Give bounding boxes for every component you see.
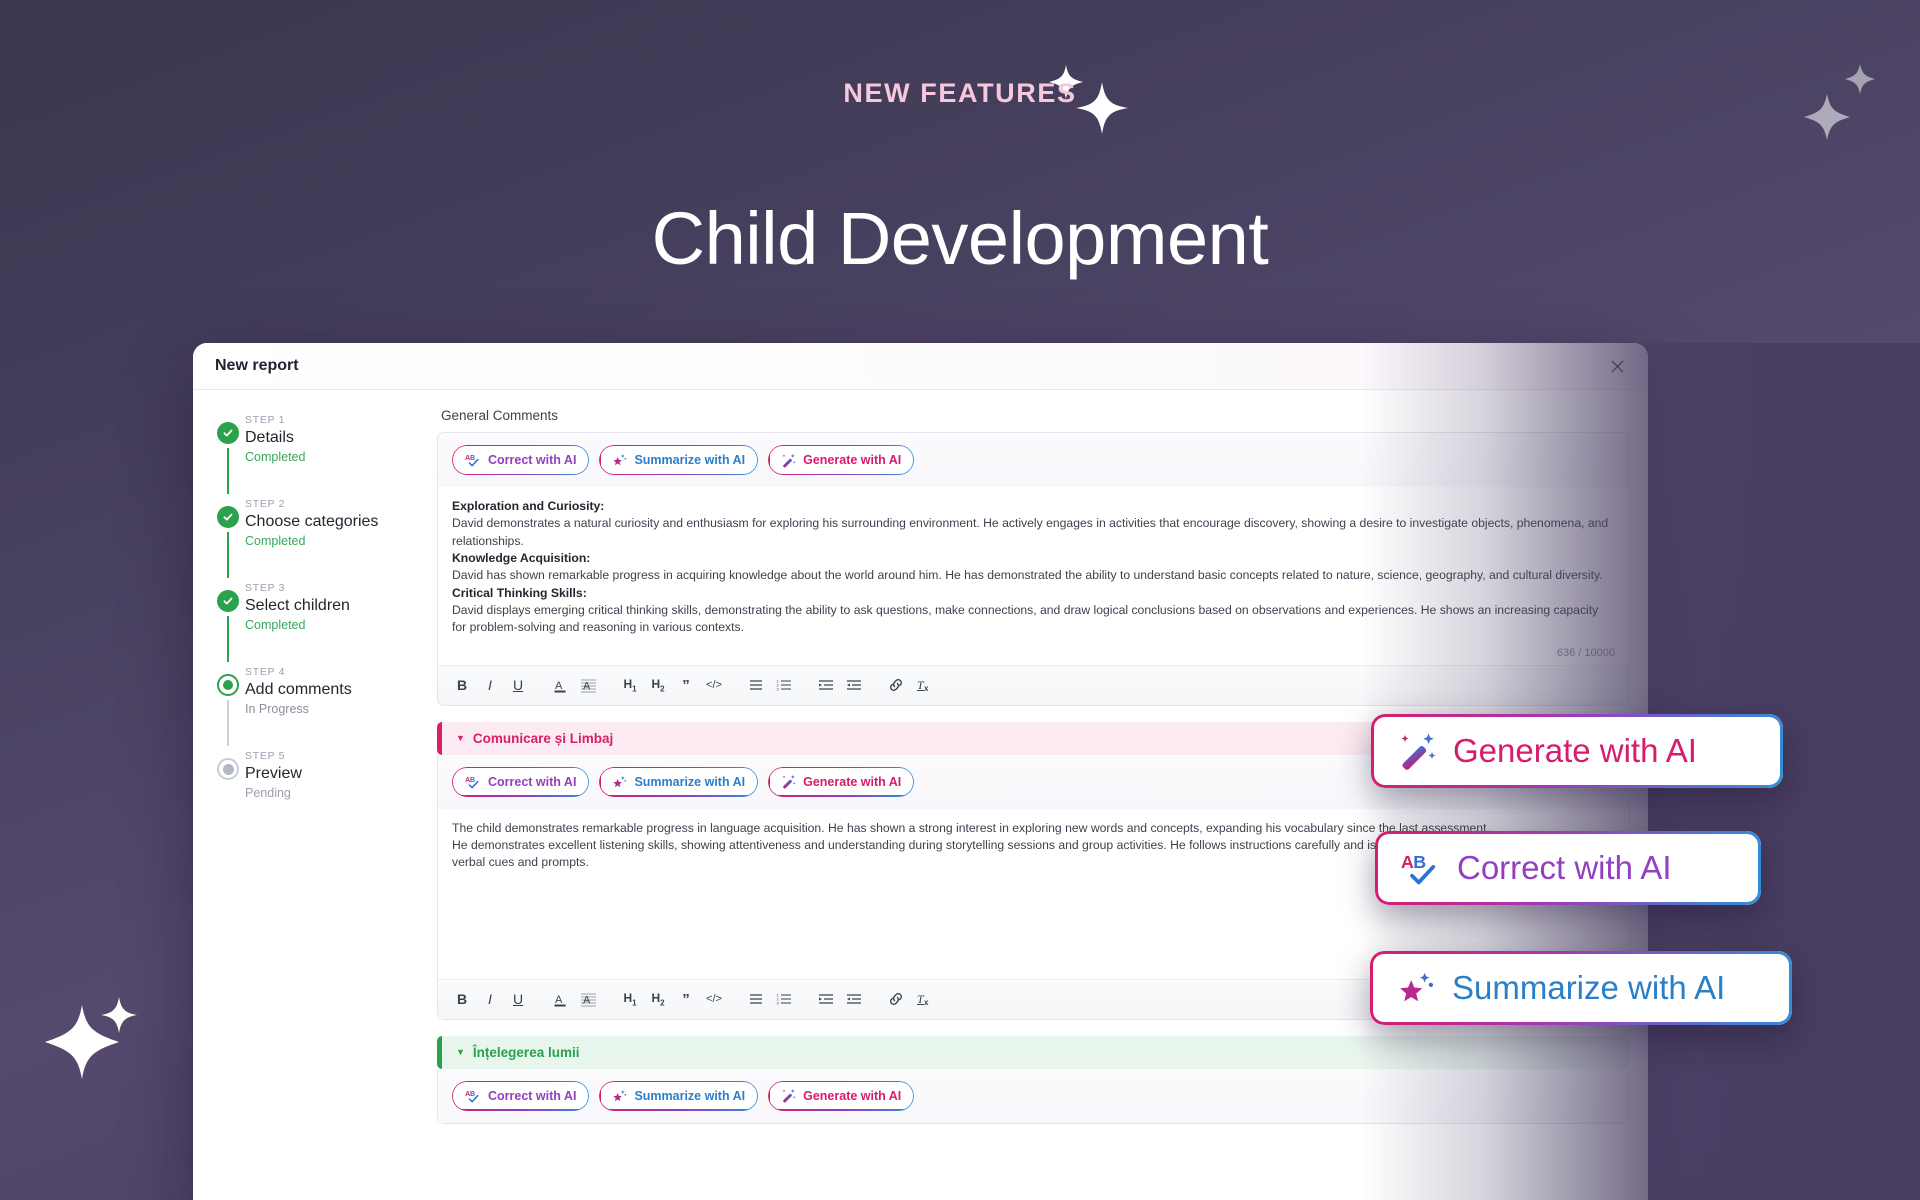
code-block-icon[interactable]: </> (700, 671, 728, 699)
code-block-icon[interactable]: </> (700, 985, 728, 1013)
ai-actions-bar: A B Correct with AI (438, 433, 1629, 487)
kicker-banner: NEW FEATURES (0, 78, 1920, 109)
chevron-down-icon: ▼ (456, 733, 465, 743)
step-number: STEP 3 (245, 582, 350, 594)
step-number: STEP 4 (245, 666, 352, 678)
stepper-item-choose-categories[interactable]: STEP 2 Choose categories Completed (211, 494, 423, 578)
step-name: Select children (245, 597, 350, 615)
summarize-with-ai-button[interactable]: Summarize with AI (599, 1081, 758, 1111)
step-text: STEP 1 Details Completed (245, 410, 305, 464)
ab-check-icon: A B (465, 775, 481, 789)
category-section-intelegerea: ▼ Înțelegerea lumii (437, 1036, 1630, 1069)
step-active-icon (217, 674, 239, 696)
svg-text:B: B (1413, 852, 1426, 872)
svg-text:x: x (924, 998, 929, 1007)
bullet-list-icon[interactable] (742, 671, 770, 699)
step-text: STEP 2 Choose categories Completed (245, 494, 378, 548)
general-comments-editor: A B Correct with AI (437, 432, 1630, 706)
svg-text:B: B (470, 777, 475, 784)
modal-title: New report (215, 357, 299, 375)
svg-text:B: B (470, 1091, 475, 1098)
star-spark-icon (612, 1089, 627, 1103)
correct-with-ai-label: Correct with AI (488, 775, 576, 789)
step-status: Pending (245, 786, 302, 800)
kicker-text: NEW FEATURES (843, 78, 1076, 109)
step-check-icon (217, 422, 239, 444)
step-number: STEP 5 (245, 750, 302, 762)
svg-text:A: A (583, 994, 591, 1006)
summarize-with-ai-button[interactable]: Summarize with AI (599, 445, 758, 475)
general-comments-label: General Comments (441, 408, 1630, 423)
summarize-with-ai-label: Summarize with AI (634, 453, 745, 467)
bold-icon[interactable]: B (448, 671, 476, 699)
correct-with-ai-label: Correct with AI (488, 453, 576, 467)
heading-1-icon[interactable]: H1 (616, 671, 644, 699)
step-status: In Progress (245, 702, 352, 716)
generate-with-ai-label: Generate with AI (803, 1089, 901, 1103)
editor-toolbar: B I U A A (438, 665, 1629, 705)
category-header[interactable]: ▼ Înțelegerea lumii (437, 1036, 1630, 1069)
summarize-with-ai-label: Summarize with AI (634, 1089, 745, 1103)
generate-with-ai-label: Generate with AI (803, 775, 901, 789)
svg-text:x: x (924, 684, 929, 693)
step-status: Completed (245, 618, 350, 632)
svg-text:3: 3 (777, 1000, 780, 1005)
stepper-item-select-children[interactable]: STEP 3 Select children Completed (211, 578, 423, 662)
bullet-list-icon[interactable] (742, 985, 770, 1013)
callout-label: Generate with AI (1453, 732, 1697, 770)
category-editor-intelegerea: A B Correct with AI (437, 1069, 1630, 1124)
svg-text:A: A (1401, 852, 1414, 872)
summarize-with-ai-button[interactable]: Summarize with AI (599, 767, 758, 797)
heading-2-icon[interactable]: H2 (644, 985, 672, 1013)
correct-with-ai-button[interactable]: A B Correct with AI (452, 767, 589, 797)
paragraph-body: David demonstrates a natural curiosity a… (452, 515, 1615, 550)
star-spark-icon (612, 453, 627, 467)
highlight-color-icon[interactable]: A (574, 671, 602, 699)
paragraph-heading: Knowledge Acquisition: (452, 551, 590, 565)
indent-decrease-icon[interactable] (840, 985, 868, 1013)
underline-icon[interactable]: U (504, 985, 532, 1013)
blockquote-icon[interactable]: ” (672, 671, 700, 699)
link-icon[interactable] (882, 671, 910, 699)
svg-text:A: A (555, 680, 563, 692)
indent-increase-icon[interactable] (812, 985, 840, 1013)
ab-check-icon: A B (465, 1089, 481, 1103)
indent-increase-icon[interactable] (812, 671, 840, 699)
page-title: Child Development (0, 196, 1920, 281)
callout-correct-with-ai[interactable]: A B Correct with AI (1375, 831, 1761, 905)
svg-text:A: A (583, 680, 591, 692)
callout-label: Correct with AI (1457, 849, 1672, 887)
clear-format-icon[interactable]: Tx (910, 671, 938, 699)
link-icon[interactable] (882, 985, 910, 1013)
correct-with-ai-button[interactable]: A B Correct with AI (452, 1081, 589, 1111)
ab-check-icon: A B (1401, 850, 1441, 886)
callout-generate-with-ai[interactable]: Generate with AI (1371, 714, 1783, 788)
paragraph-heading: Critical Thinking Skills: (452, 586, 587, 600)
general-comments-text[interactable]: Exploration and Curiosity: David demonst… (438, 487, 1629, 645)
clear-format-icon[interactable]: Tx (910, 985, 938, 1013)
indent-decrease-icon[interactable] (840, 671, 868, 699)
heading-1-icon[interactable]: H1 (616, 985, 644, 1013)
numbered-list-icon[interactable]: 123 (770, 671, 798, 699)
step-connector (227, 700, 229, 746)
sparkle-icon (40, 1000, 124, 1084)
stepper-item-add-comments[interactable]: STEP 4 Add comments In Progress (211, 662, 423, 746)
step-text: STEP 3 Select children Completed (245, 578, 350, 632)
step-text: STEP 5 Preview Pending (245, 746, 302, 800)
category-title: Înțelegerea lumii (473, 1045, 580, 1060)
svg-text:B: B (470, 455, 475, 462)
category-title: Comunicare și Limbaj (473, 731, 613, 746)
stepper-item-preview[interactable]: STEP 5 Preview Pending (211, 746, 423, 830)
blockquote-icon[interactable]: ” (672, 985, 700, 1013)
star-spark-icon (612, 775, 627, 789)
generate-with-ai-button[interactable]: Generate with AI (768, 1081, 914, 1111)
sparkle-icon (98, 994, 140, 1036)
callout-label: Summarize with AI (1452, 969, 1725, 1007)
correct-with-ai-button[interactable]: A B Correct with AI (452, 445, 589, 475)
step-name: Choose categories (245, 513, 378, 531)
correct-with-ai-label: Correct with AI (488, 1089, 576, 1103)
close-icon[interactable] (1606, 355, 1628, 377)
step-connector (227, 616, 229, 662)
report-content: General Comments A B Correct wit (423, 390, 1648, 1200)
italic-icon[interactable]: I (476, 985, 504, 1013)
generate-with-ai-label: Generate with AI (803, 453, 901, 467)
step-text: STEP 4 Add comments In Progress (245, 662, 352, 716)
step-status: Completed (245, 534, 378, 548)
numbered-list-icon[interactable]: 123 (770, 985, 798, 1013)
step-name: Details (245, 429, 305, 447)
generate-with-ai-button[interactable]: Generate with AI (768, 445, 914, 475)
chevron-down-icon: ▼ (456, 1047, 465, 1057)
character-counter: 636 / 10000 (438, 645, 1629, 665)
promo-banner: NEW FEATURES Child Development New repor… (0, 0, 1920, 1200)
magic-wand-icon (1397, 731, 1437, 771)
step-name: Add comments (245, 681, 352, 699)
paragraph-body: David has shown remarkable progress in a… (452, 567, 1615, 584)
step-check-icon (217, 590, 239, 612)
underline-icon[interactable]: U (504, 671, 532, 699)
step-number: STEP 2 (245, 498, 378, 510)
summarize-with-ai-label: Summarize with AI (634, 775, 745, 789)
heading-2-icon[interactable]: H2 (644, 671, 672, 699)
callout-summarize-with-ai[interactable]: Summarize with AI (1370, 951, 1792, 1025)
modal-header: New report (193, 343, 1648, 390)
magic-wand-icon (781, 453, 796, 468)
step-connector (227, 448, 229, 494)
magic-wand-icon (781, 1088, 796, 1103)
stepper-sidebar: STEP 1 Details Completed STEP 2 Cho (193, 390, 423, 1200)
ai-actions-bar: A B Correct with AI (438, 1069, 1629, 1123)
svg-text:A: A (555, 994, 563, 1006)
highlight-color-icon[interactable]: A (574, 985, 602, 1013)
step-name: Preview (245, 765, 302, 783)
paragraph-heading: Exploration and Curiosity: (452, 499, 604, 513)
bold-icon[interactable]: B (448, 985, 476, 1013)
step-pending-icon (217, 758, 239, 780)
magic-wand-icon (781, 774, 796, 789)
stepper-item-details[interactable]: STEP 1 Details Completed (211, 410, 423, 494)
paragraph-body: David displays emerging critical thinkin… (452, 602, 1615, 637)
italic-icon[interactable]: I (476, 671, 504, 699)
generate-with-ai-button[interactable]: Generate with AI (768, 767, 914, 797)
text-color-icon[interactable]: A (546, 985, 574, 1013)
step-check-icon (217, 506, 239, 528)
step-status: Completed (245, 450, 305, 464)
step-connector (227, 532, 229, 578)
step-number: STEP 1 (245, 414, 305, 426)
ab-check-icon: A B (465, 453, 481, 467)
text-color-icon[interactable]: A (546, 671, 574, 699)
star-spark-icon (1396, 970, 1436, 1006)
svg-text:3: 3 (777, 686, 780, 691)
